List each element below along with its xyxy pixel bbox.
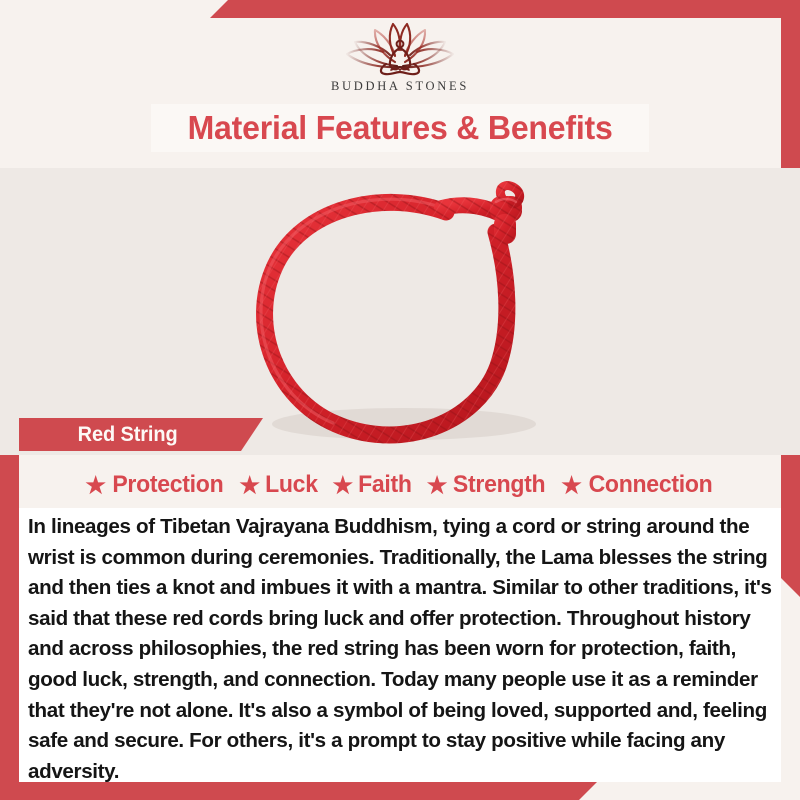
benefit-label: Protection [112,471,223,499]
description-text: In lineages of Tibetan Vajrayana Buddhis… [19,508,781,782]
benefits-list: ★ Protection ★ Luck ★ Faith ★ Strength ★… [19,464,781,506]
benefit-item: ★ Luck [239,471,318,499]
brand-wordmark: BUDDHA STONES [331,79,469,94]
red-braided-string-bracelet-image [196,168,616,455]
benefit-label: Connection [588,471,712,499]
benefit-label: Strength [453,471,545,499]
page-title: Material Features & Benefits [187,109,612,147]
infographic-page: BUDDHA STONES Material Features & Benefi… [0,0,800,800]
benefit-item: ★ Protection [85,471,225,499]
product-label-text: Red String [78,423,178,447]
star-icon: ★ [427,474,447,497]
star-icon: ★ [85,474,105,497]
star-icon: ★ [333,474,353,497]
star-icon: ★ [239,474,259,497]
star-icon: ★ [561,474,581,497]
description-panel: In lineages of Tibetan Vajrayana Buddhis… [19,508,781,782]
title-banner: Material Features & Benefits [151,104,649,152]
decor-band-bottom [0,782,597,800]
benefit-item: ★ Faith [333,471,413,499]
benefit-label: Faith [358,471,412,499]
brand-logo: BUDDHA STONES [0,16,800,102]
product-photo [0,168,800,455]
lotus-meditation-figure-icon [331,16,469,78]
benefit-item: ★ Strength [427,471,548,499]
product-label-flag: Red String [19,418,263,451]
benefit-item: ★ Connection [561,471,714,499]
benefit-label: Luck [265,471,318,499]
